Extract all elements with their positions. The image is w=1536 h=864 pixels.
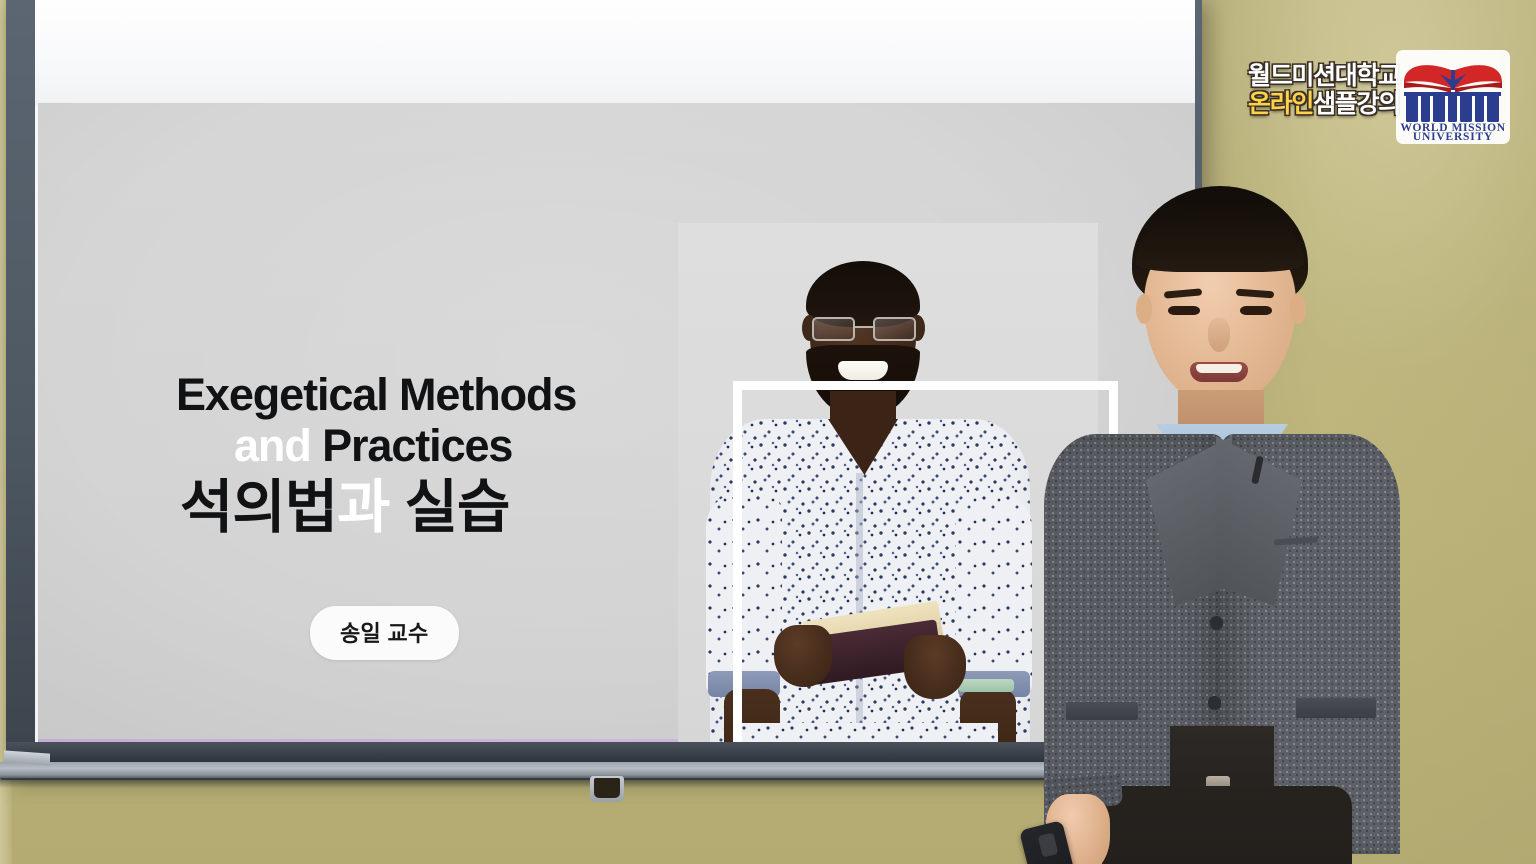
eyeglasses-icon bbox=[812, 317, 916, 341]
whiteboard-top-glare bbox=[35, 0, 1195, 106]
slide-title-korean-part-3: 실습 bbox=[405, 475, 510, 540]
eyeglass-lens-left bbox=[812, 317, 855, 341]
slide-title-line-1: Exegetical Methods bbox=[176, 371, 696, 419]
photo-man-hand-left bbox=[774, 625, 832, 687]
wmu-korean-highlight: 온라인 bbox=[1248, 90, 1313, 118]
video-frame: Exegetical Methods and Practices 석의법과 실습… bbox=[0, 0, 1536, 864]
whiteboard-mount-bracket-inner bbox=[594, 778, 620, 798]
wmu-korean-line-2: 온라인샘플강의 bbox=[1248, 92, 1398, 117]
wmu-crest-icon: WORLD MISSION UNIVERSITY bbox=[1394, 48, 1512, 146]
wmu-logo-korean-text: 월드미션대학교 온라인샘플강의 bbox=[1248, 64, 1398, 117]
photo-man-shirt-hem bbox=[740, 723, 998, 742]
presenter-pocket-left bbox=[1066, 702, 1138, 720]
presenter-pocket-right bbox=[1296, 698, 1376, 718]
wmu-korean-line-1: 월드미션대학교 bbox=[1248, 64, 1398, 89]
presenter-ear-right bbox=[1290, 294, 1306, 324]
photo-man-smile bbox=[838, 361, 888, 380]
wmu-korean-normal: 샘플강의 bbox=[1313, 90, 1400, 118]
live-presenter bbox=[1010, 186, 1410, 864]
slide-title-and: and bbox=[234, 420, 311, 471]
wmu-logo-mark: WORLD MISSION UNIVERSITY bbox=[1394, 48, 1512, 146]
wmu-mark-title-2: UNIVERSITY bbox=[1413, 131, 1493, 143]
presenter-nose bbox=[1208, 318, 1230, 352]
presenter-blazer-button-bottom bbox=[1208, 696, 1221, 709]
presenter-blazer-button-top bbox=[1210, 616, 1223, 629]
slide-title-practices: Practices bbox=[322, 420, 512, 471]
slide-title-line-2: and Practices bbox=[176, 419, 696, 472]
photo-man-sleeve-left bbox=[706, 493, 782, 693]
photo-man-hand-right bbox=[904, 635, 966, 699]
photo-man-wristband bbox=[958, 679, 1014, 692]
presenter-trousers bbox=[1102, 786, 1352, 864]
wmu-logo-overlay: 월드미션대학교 온라인샘플강의 bbox=[1248, 48, 1526, 146]
slide-title-block: Exegetical Methods and Practices 석의법과 실습 bbox=[176, 371, 696, 541]
photo-man-shirt-placket bbox=[856, 473, 863, 742]
presenter-eye-right bbox=[1240, 306, 1272, 315]
presenter-ear-left bbox=[1136, 294, 1152, 324]
eyeglass-bridge bbox=[855, 326, 873, 328]
presenter-eye-left bbox=[1168, 306, 1200, 315]
slide-title-korean-part-1: 석의법 bbox=[180, 475, 337, 540]
slide-title-korean: 석의법과 실습 bbox=[176, 474, 696, 541]
presenter-teeth bbox=[1196, 364, 1242, 373]
slide-title-korean-part-2: 과 bbox=[337, 475, 389, 540]
eyeglass-lens-right bbox=[873, 317, 916, 341]
presenter-name-badge: 송일 교수 bbox=[310, 606, 459, 660]
